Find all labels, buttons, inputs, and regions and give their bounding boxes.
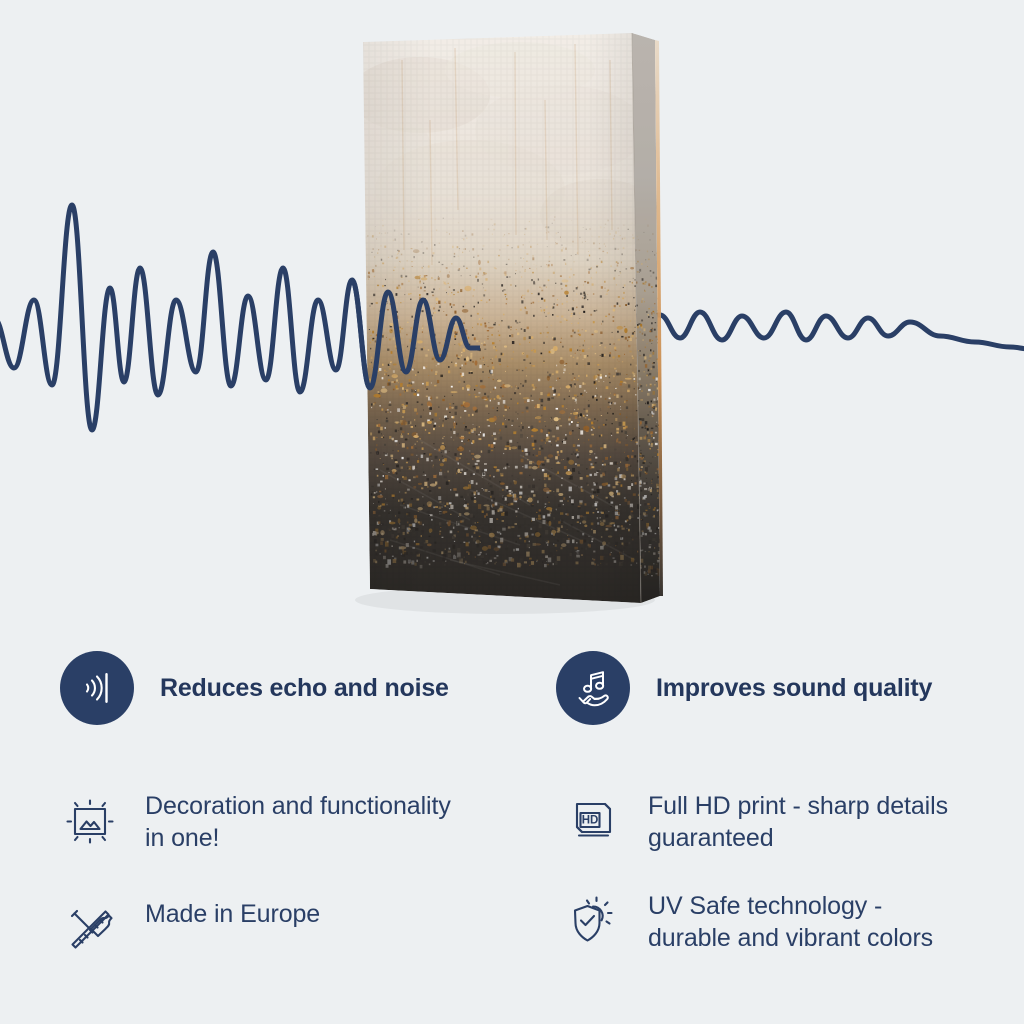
- product-canvas: [0, 0, 1024, 660]
- secondary-feature-3: UV Safe technology - durable and vibrant…: [560, 890, 933, 954]
- sec0-line0: Decoration and functionality: [145, 790, 451, 822]
- secondary-feature-3-label: UV Safe technology - durable and vibrant…: [648, 890, 933, 954]
- svg-text:HD: HD: [582, 814, 599, 826]
- primary-feature-0: Reduces echo and noise: [60, 651, 449, 725]
- secondary-feature-1-icon-wrap: HD: [560, 790, 626, 848]
- canvas-front-face: [345, 33, 660, 605]
- sec2-line0: Made in Europe: [145, 898, 320, 930]
- sec1-line1: guaranteed: [648, 822, 948, 854]
- primary-feature-1-label: Improves sound quality: [656, 674, 932, 703]
- sec1-line0: Full HD print - sharp details: [648, 790, 948, 822]
- music-note-hand-icon: [570, 665, 616, 711]
- picture-frame-shine-icon: [59, 792, 121, 854]
- uv-shield-sun-icon: [563, 892, 623, 952]
- ruler-hammer-icon: [61, 900, 119, 958]
- primary-feature-0-badge: [60, 651, 134, 725]
- sec3-line1: durable and vibrant colors: [648, 922, 933, 954]
- hd-screen-icon: HD: [565, 792, 621, 848]
- sec0-line1: in one!: [145, 822, 451, 854]
- secondary-feature-3-icon-wrap: [560, 890, 626, 952]
- infographic-stage: Reduces echo and noise Improves so: [0, 0, 1024, 1024]
- sec3-line0: UV Safe technology -: [648, 890, 933, 922]
- secondary-feature-0: Decoration and functionality in one!: [57, 790, 451, 854]
- secondary-feature-1: HD Full HD print - sharp details guarant…: [560, 790, 948, 854]
- sound-waves-wall-icon: [75, 666, 119, 710]
- secondary-feature-0-icon-wrap: [57, 790, 123, 854]
- primary-feature-1: Improves sound quality: [556, 651, 932, 725]
- secondary-feature-2-label: Made in Europe: [145, 898, 320, 930]
- primary-feature-1-badge: [556, 651, 630, 725]
- secondary-feature-1-label: Full HD print - sharp details guaranteed: [648, 790, 948, 854]
- secondary-feature-2: Made in Europe: [57, 898, 320, 958]
- secondary-feature-2-icon-wrap: [57, 898, 123, 958]
- secondary-feature-0-label: Decoration and functionality in one!: [145, 790, 451, 854]
- primary-feature-0-label: Reduces echo and noise: [160, 674, 449, 703]
